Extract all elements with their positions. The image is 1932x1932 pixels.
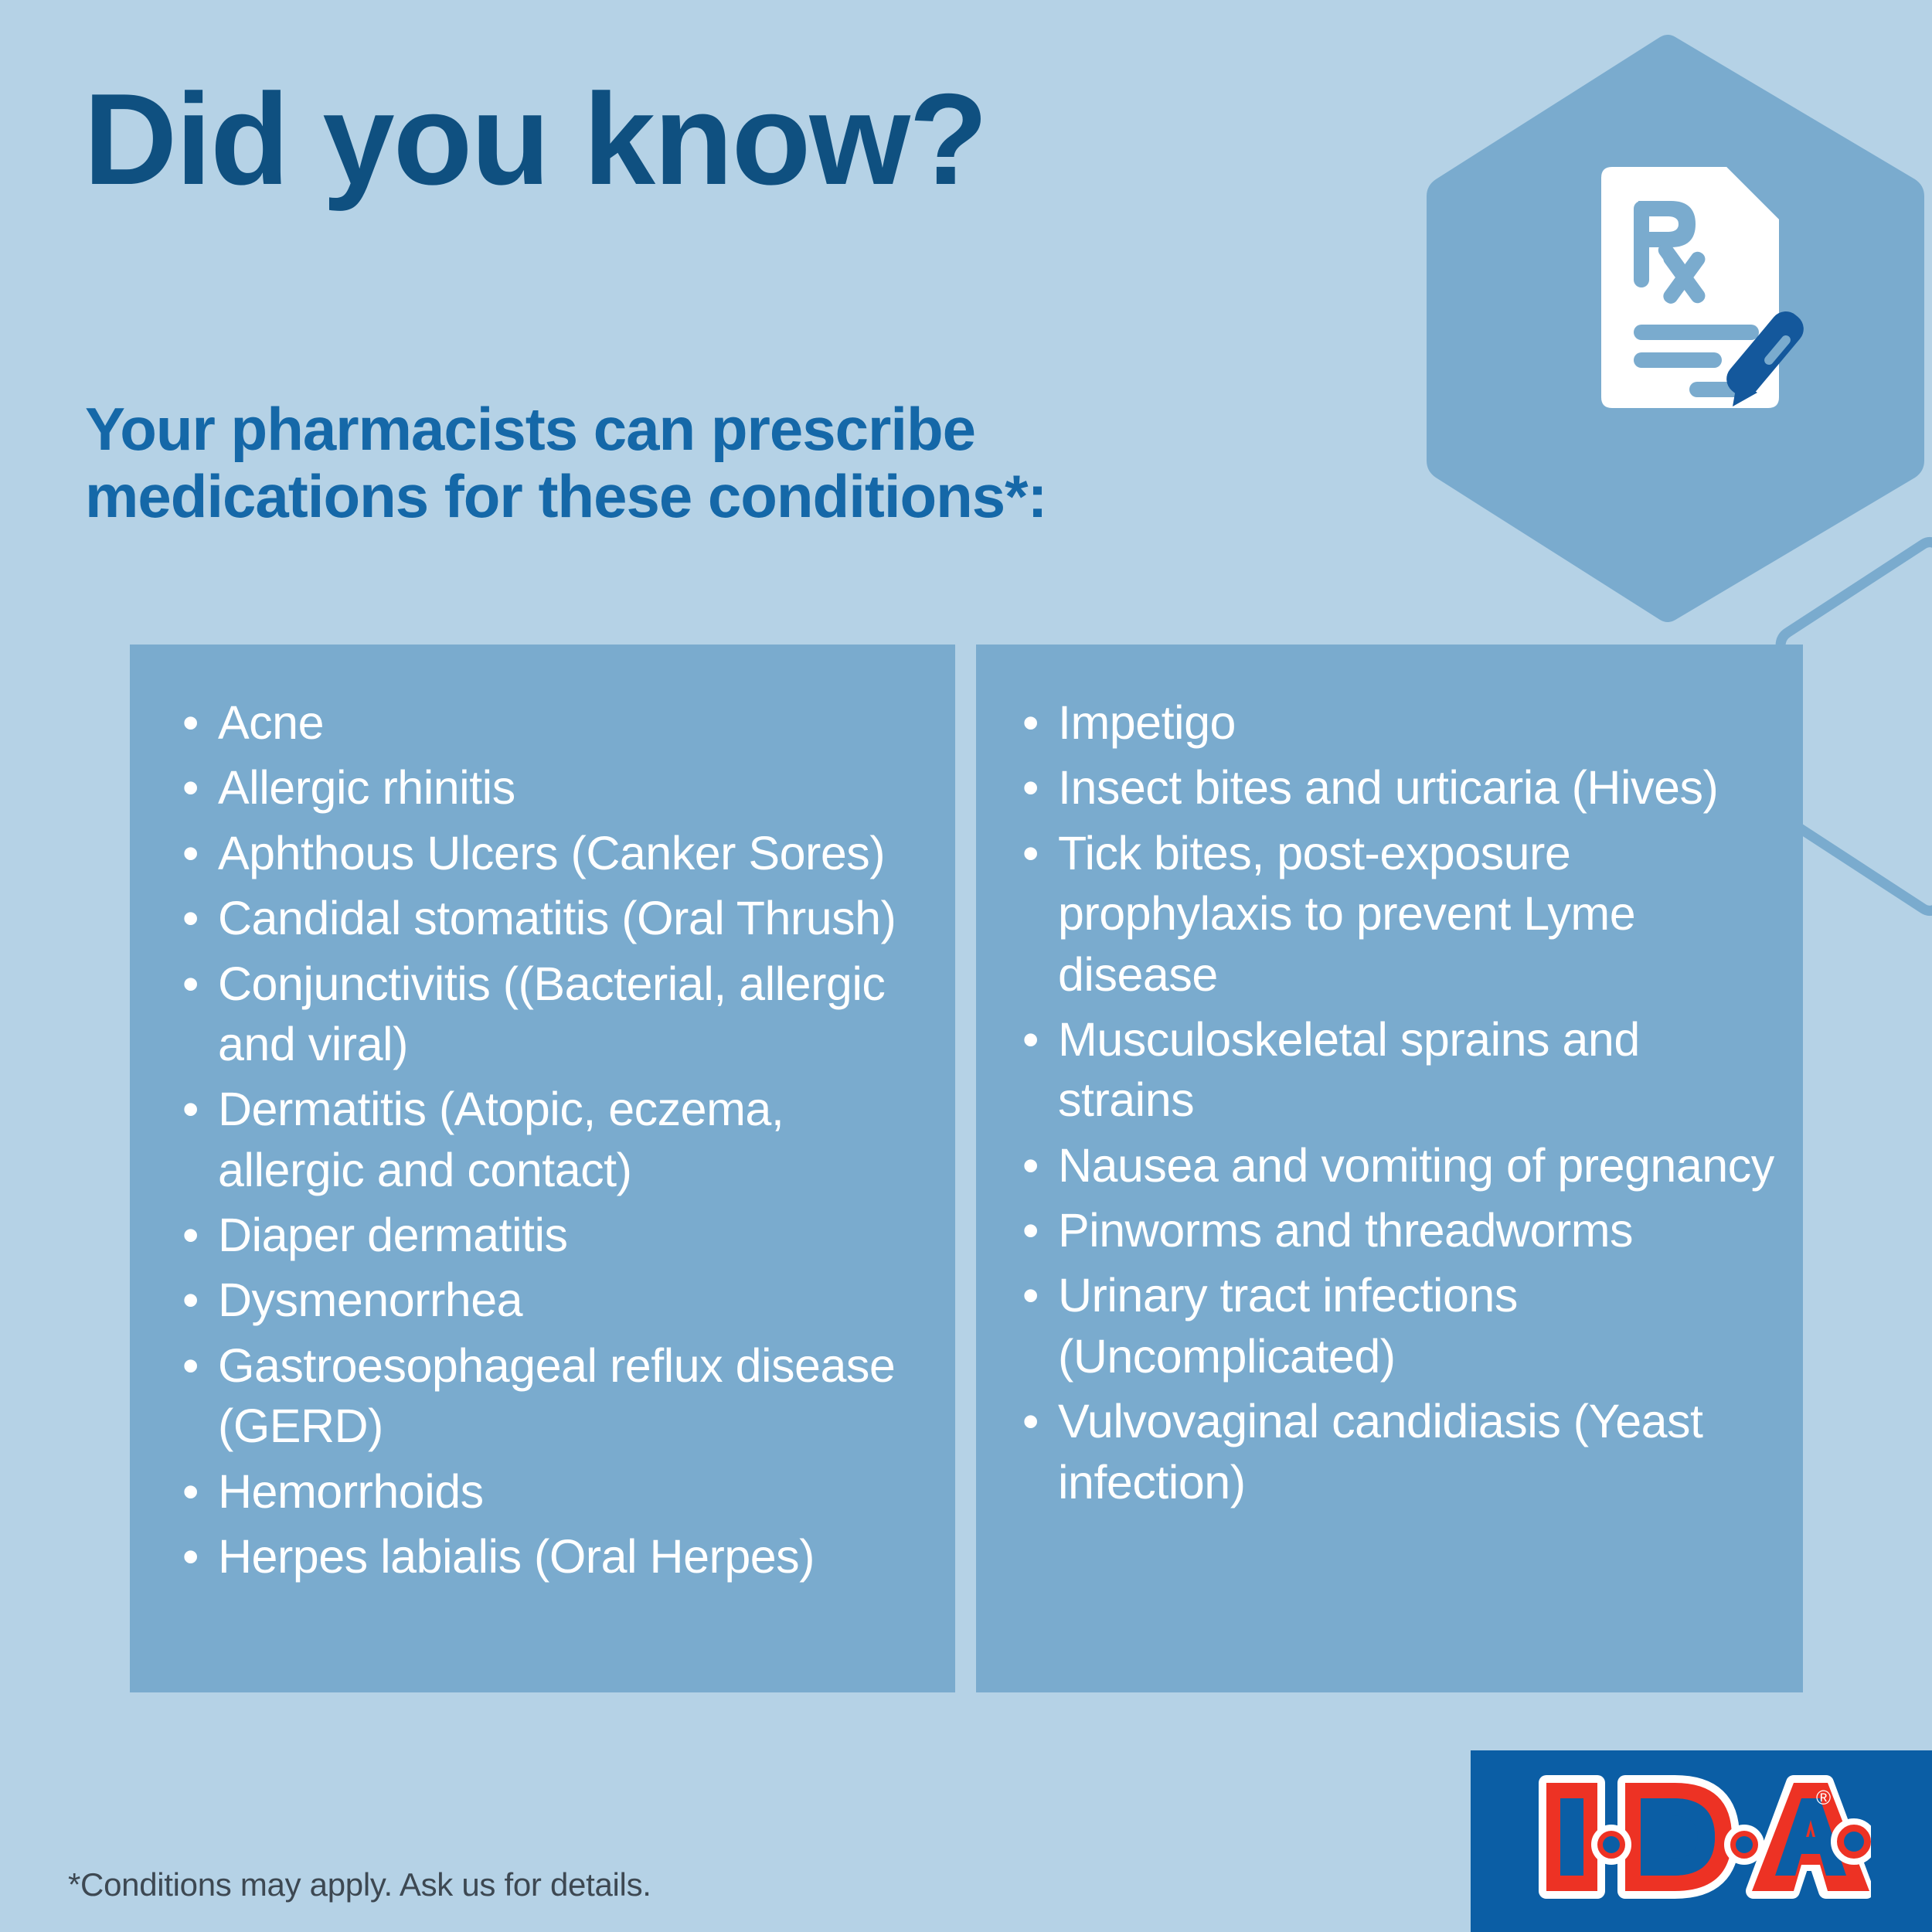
bullet-icon: •	[1022, 1009, 1039, 1070]
rx-prescription-icon	[1590, 161, 1815, 431]
condition-label: Nausea and vomiting of pregnancy	[1058, 1135, 1780, 1196]
condition-label: Dysmenorrhea	[218, 1270, 932, 1330]
list-item: •Aphthous Ulcers (Canker Sores)	[176, 823, 932, 883]
list-item: •Gastroesophageal reflux disease (GERD)	[176, 1335, 932, 1457]
list-item: •Diaper dermatitis	[176, 1205, 932, 1265]
condition-label: Tick bites, post-exposure prophylaxis to…	[1058, 823, 1780, 1005]
bullet-icon: •	[182, 1335, 199, 1396]
bullet-icon: •	[1022, 1135, 1039, 1196]
condition-label: Urinary tract infections (Uncomplicated)	[1058, 1265, 1780, 1386]
bullet-icon: •	[1022, 757, 1039, 818]
condition-label: Vulvovaginal candidiasis (Yeast infectio…	[1058, 1391, 1780, 1512]
bullet-icon: •	[182, 1079, 199, 1139]
subtitle-line-2: medications for these conditions*:	[85, 463, 1047, 530]
bullet-icon: •	[1022, 692, 1039, 753]
bullet-icon: •	[1022, 1391, 1039, 1451]
list-item: •Musculoskeletal sprains and strains	[1016, 1009, 1780, 1131]
condition-label: Acne	[218, 692, 932, 753]
list-item: •Candidal stomatitis (Oral Thrush)	[176, 888, 932, 948]
condition-label: Impetigo	[1058, 692, 1780, 753]
list-item: •Nausea and vomiting of pregnancy	[1016, 1135, 1780, 1196]
list-item: •Insect bites and urticaria (Hives)	[1016, 757, 1780, 818]
condition-label: Pinworms and threadworms	[1058, 1200, 1780, 1260]
condition-label: Herpes labialis (Oral Herpes)	[218, 1526, 932, 1587]
conditions-panel-left: •Acne•Allergic rhinitis•Aphthous Ulcers …	[130, 645, 955, 1692]
list-item: •Conjunctivitis ((Bacterial, allergic an…	[176, 954, 932, 1075]
condition-label: Allergic rhinitis	[218, 757, 932, 818]
bullet-icon: •	[182, 757, 199, 818]
bullet-icon: •	[1022, 823, 1039, 883]
bullet-icon: •	[182, 1526, 199, 1587]
bullet-icon: •	[182, 1270, 199, 1330]
page-title: Did you know?	[83, 74, 987, 204]
condition-label: Aphthous Ulcers (Canker Sores)	[218, 823, 932, 883]
bullet-icon: •	[182, 823, 199, 883]
condition-label: Dermatitis (Atopic, eczema, allergic and…	[218, 1079, 932, 1200]
list-item: •Vulvovaginal candidiasis (Yeast infecti…	[1016, 1391, 1780, 1512]
bullet-icon: •	[1022, 1265, 1039, 1325]
conditions-panel-right: •Impetigo•Insect bites and urticaria (Hi…	[976, 645, 1803, 1692]
bullet-icon: •	[1022, 1200, 1039, 1260]
list-item: •Herpes labialis (Oral Herpes)	[176, 1526, 932, 1587]
page-subtitle: Your pharmacists can prescribe medicatio…	[85, 396, 1047, 531]
list-item: •Dermatitis (Atopic, eczema, allergic an…	[176, 1079, 932, 1200]
list-item: •Allergic rhinitis	[176, 757, 932, 818]
condition-label: Musculoskeletal sprains and strains	[1058, 1009, 1780, 1131]
condition-label: Diaper dermatitis	[218, 1205, 932, 1265]
list-item: •Hemorrhoids	[176, 1461, 932, 1522]
conditions-list-right: •Impetigo•Insect bites and urticaria (Hi…	[1016, 692, 1780, 1512]
list-item: •Dysmenorrhea	[176, 1270, 932, 1330]
subtitle-line-1: Your pharmacists can prescribe	[85, 396, 1047, 463]
footnote-text: *Conditions may apply. Ask us for detail…	[68, 1866, 651, 1903]
list-item: •Acne	[176, 692, 932, 753]
bullet-icon: •	[182, 1461, 199, 1522]
condition-label: Gastroesophageal reflux disease (GERD)	[218, 1335, 932, 1457]
condition-label: Candidal stomatitis (Oral Thrush)	[218, 888, 932, 948]
bullet-icon: •	[182, 1205, 199, 1265]
list-item: •Tick bites, post-exposure prophylaxis t…	[1016, 823, 1780, 1005]
condition-label: Conjunctivitis ((Bacterial, allergic and…	[218, 954, 932, 1075]
condition-label: Hemorrhoids	[218, 1461, 932, 1522]
list-item: •Urinary tract infections (Uncomplicated…	[1016, 1265, 1780, 1386]
bullet-icon: •	[182, 692, 199, 753]
infographic-poster: Did you know? Your pharmacists can presc…	[0, 0, 1932, 1932]
ida-logo-block: ®	[1471, 1750, 1932, 1932]
bullet-icon: •	[182, 954, 199, 1014]
registered-trademark-symbol: ®	[1816, 1786, 1831, 1810]
list-item: •Impetigo	[1016, 692, 1780, 753]
conditions-list-left: •Acne•Allergic rhinitis•Aphthous Ulcers …	[176, 692, 932, 1587]
condition-label: Insect bites and urticaria (Hives)	[1058, 757, 1780, 818]
list-item: •Pinworms and threadworms	[1016, 1200, 1780, 1260]
bullet-icon: •	[182, 888, 199, 948]
